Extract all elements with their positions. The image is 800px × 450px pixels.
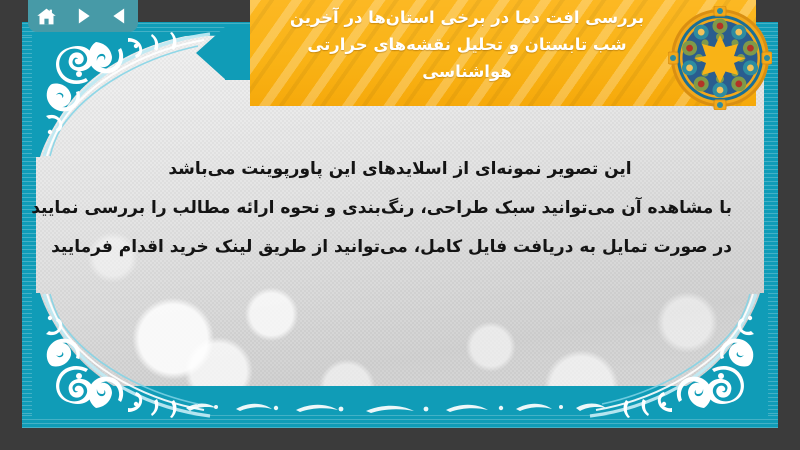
body-line-2: با مشاهده آن می‌توانید سبک طراحی، رنگ‌بن…: [68, 189, 732, 228]
previous-slide-button[interactable]: [107, 3, 133, 29]
banner-arrow-tail: [225, 26, 251, 80]
triangle-right-icon: [73, 6, 93, 26]
body-line-1: این تصویر نمونه‌ای از اسلایدهای این پاور…: [68, 150, 732, 189]
banner-arrow-tip: [196, 26, 226, 80]
page-title: بررسی افت دما در برخی استان‌ها در آخرین …: [256, 4, 678, 85]
slide-body-text: این تصویر نمونه‌ای از اسلایدهای این پاور…: [68, 150, 732, 267]
home-icon: [36, 6, 57, 27]
slide-viewer: این تصویر نمونه‌ای از اسلایدهای این پاور…: [0, 0, 800, 450]
home-button[interactable]: [33, 3, 59, 29]
next-slide-button[interactable]: [70, 3, 96, 29]
persian-medallion-icon: [668, 6, 772, 110]
body-line-3: در صورت تمایل به دریافت فایل کامل، می‌تو…: [68, 228, 732, 267]
slide-navigation-bar: [28, 0, 138, 32]
triangle-left-icon: [110, 6, 130, 26]
